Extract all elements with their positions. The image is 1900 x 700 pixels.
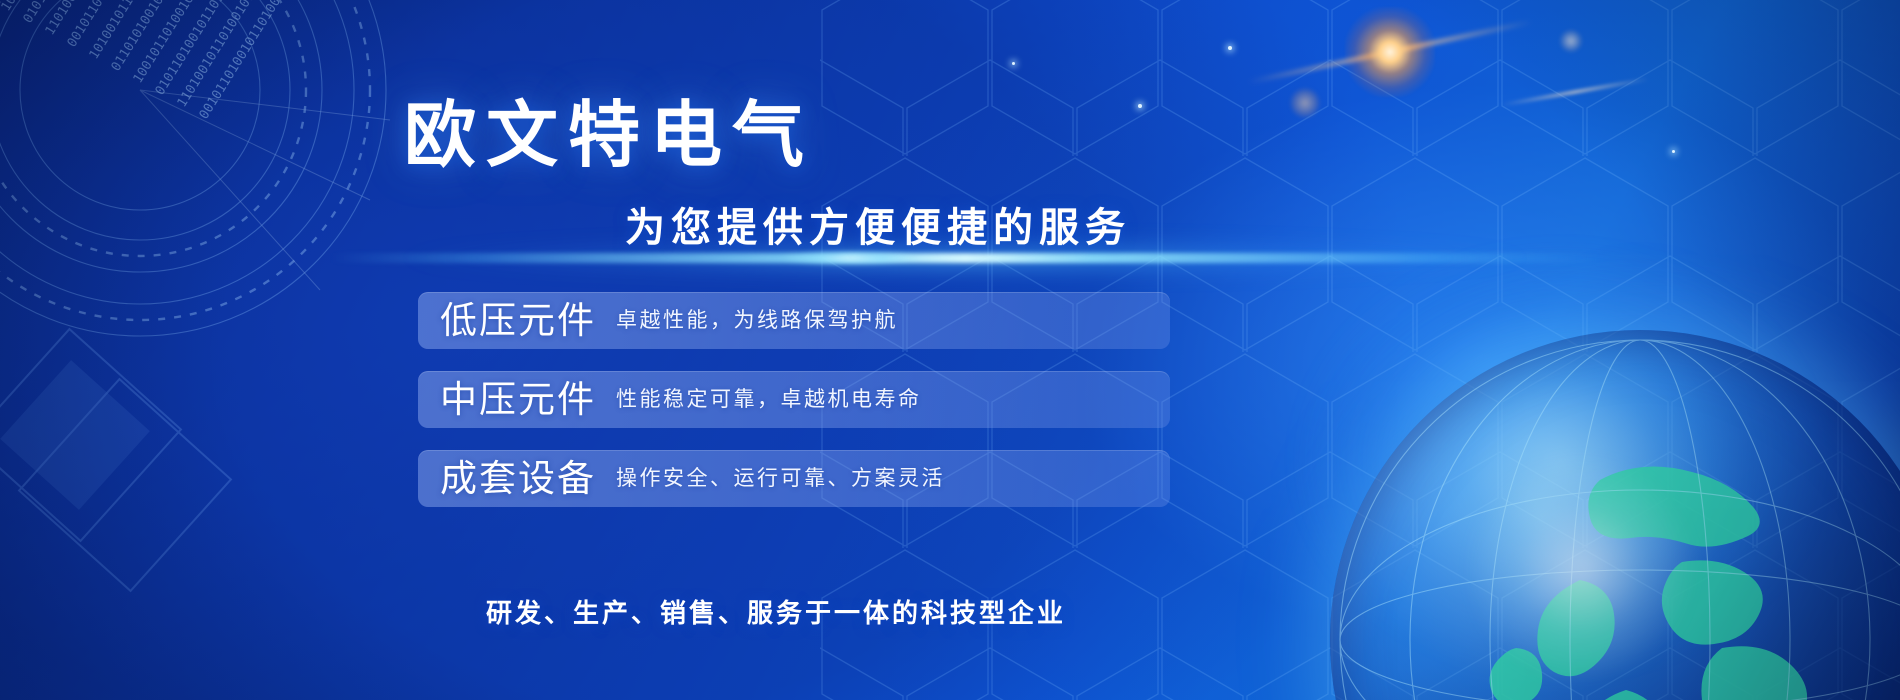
feature-item-complete-equipment[interactable]: 成套设备 操作安全、运行可靠、方案灵活 xyxy=(418,450,1170,507)
feature-heading: 成套设备 xyxy=(440,460,596,497)
feature-description: 性能稳定可靠，卓越机电寿命 xyxy=(616,389,922,410)
feature-heading: 中压元件 xyxy=(440,381,596,418)
feature-description: 操作安全、运行可靠、方案灵活 xyxy=(616,468,945,489)
hero-banner: 1010010110100101101 0110101001011010010 … xyxy=(0,0,1900,700)
banner-subtitle: 为您提供方便便捷的服务 xyxy=(625,208,1131,248)
feature-description: 卓越性能，为线路保驾护航 xyxy=(616,310,898,331)
feature-item-low-voltage[interactable]: 低压元件 卓越性能，为线路保驾护航 xyxy=(418,292,1170,349)
feature-item-medium-voltage[interactable]: 中压元件 性能稳定可靠，卓越机电寿命 xyxy=(418,371,1170,428)
banner-tagline: 研发、生产、销售、服务于一体的科技型企业 xyxy=(486,600,1066,626)
feature-heading: 低压元件 xyxy=(440,302,596,339)
brand-title: 欧文特电气 xyxy=(404,100,814,172)
feature-list: 低压元件 卓越性能，为线路保驾护航 中压元件 性能稳定可靠，卓越机电寿命 成套设… xyxy=(418,292,1170,529)
banner-content: 欧文特电气 为您提供方便便捷的服务 低压元件 卓越性能，为线路保驾护航 中压元件… xyxy=(0,0,1900,700)
